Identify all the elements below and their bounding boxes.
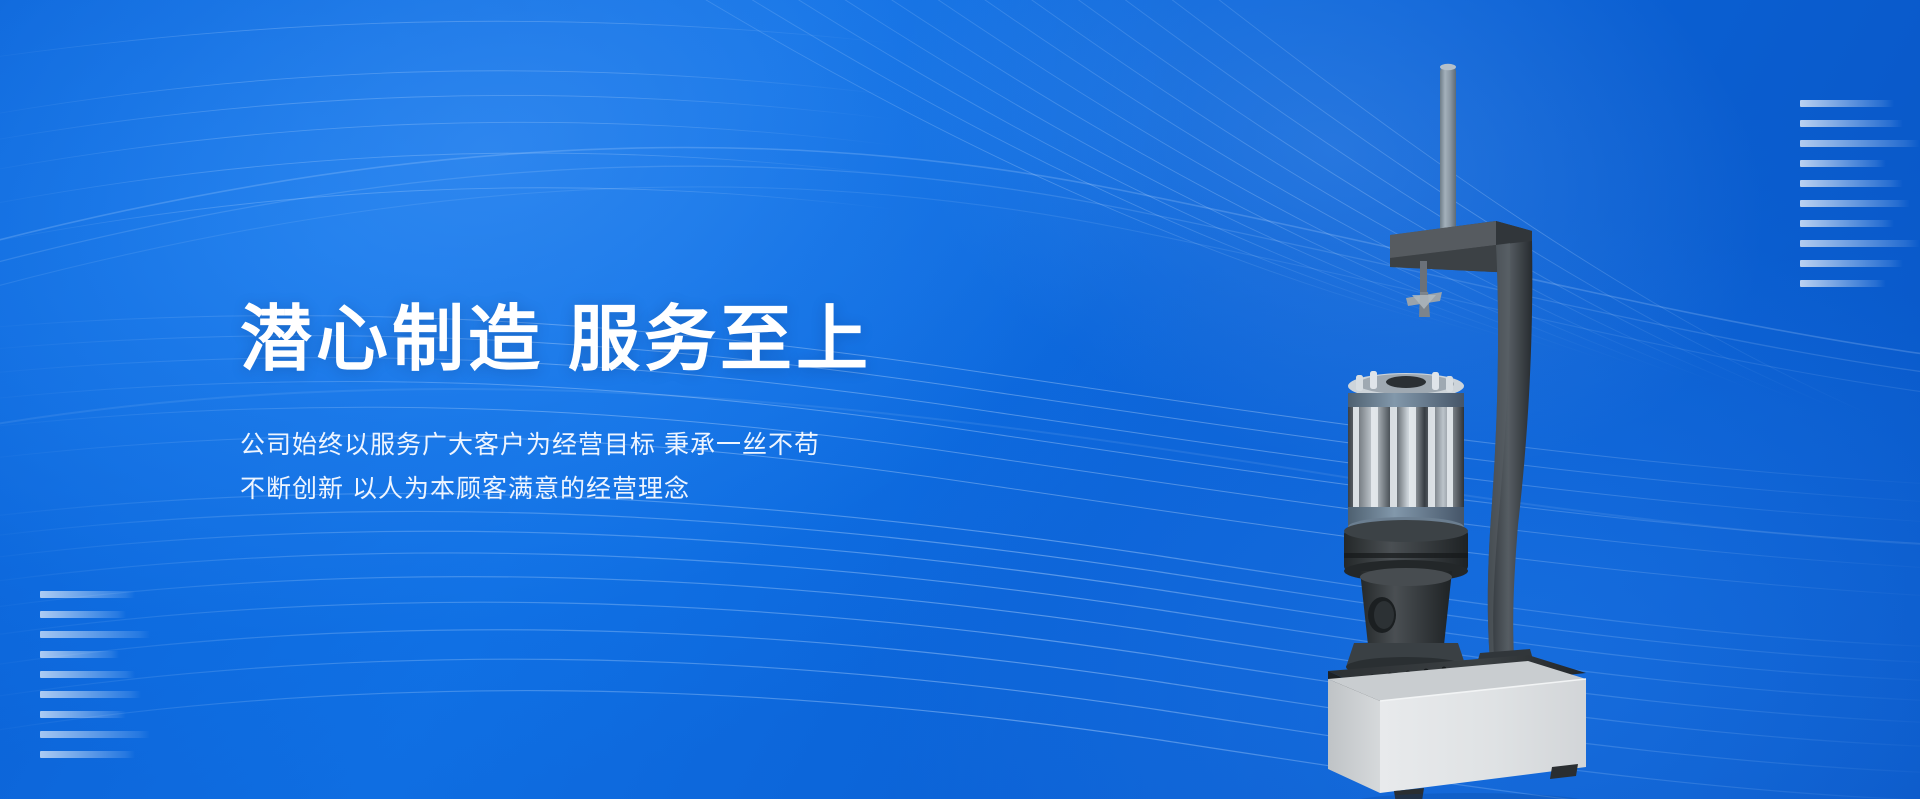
banner-subcopy-line-1: 公司始终以服务广大客户为经营目标 秉承一丝不苟 bbox=[240, 423, 1000, 468]
decor-bar bbox=[40, 691, 141, 698]
product-machine-illustration bbox=[1320, 55, 1650, 799]
decor-bar bbox=[40, 671, 135, 678]
decor-bar bbox=[1800, 220, 1894, 227]
decor-bar bbox=[40, 631, 150, 638]
decor-bar bbox=[1800, 260, 1903, 267]
banner-copy-block: 潜心制造 服务至上 公司始终以服务广大客户为经营目标 秉承一丝不苟 不断创新 以… bbox=[240, 300, 1000, 512]
cabinet-pedestal bbox=[1328, 661, 1586, 793]
decor-bar bbox=[1800, 120, 1903, 127]
decor-bar bbox=[40, 751, 135, 758]
decor-bar bbox=[40, 611, 126, 618]
decor-bar bbox=[1800, 100, 1894, 107]
vertical-guide-rod bbox=[1440, 64, 1456, 240]
decor-bar bbox=[1800, 280, 1886, 287]
multi-column-cylinder bbox=[1348, 371, 1464, 537]
motor-housing bbox=[1344, 520, 1468, 677]
hero-banner: 潜心制造 服务至上 公司始终以服务广大客户为经营目标 秉承一丝不苟 不断创新 以… bbox=[0, 0, 1920, 799]
left-bottom-bar-stack bbox=[40, 591, 150, 771]
decor-bar bbox=[1800, 160, 1886, 167]
decor-bar bbox=[1800, 240, 1920, 247]
banner-headline: 潜心制造 服务至上 bbox=[240, 300, 1000, 381]
decor-bar bbox=[1800, 180, 1903, 187]
decor-bar bbox=[40, 731, 150, 738]
right-edge-bar-stack bbox=[1800, 100, 1920, 300]
decor-bar bbox=[40, 591, 135, 598]
banner-subcopy: 公司始终以服务广大客户为经营目标 秉承一丝不苟 不断创新 以人为本顾客满意的经营… bbox=[240, 423, 1000, 512]
banner-subcopy-line-2: 不断创新 以人为本顾客满意的经营理念 bbox=[240, 467, 1000, 512]
decor-bar bbox=[1800, 140, 1920, 147]
decor-bar bbox=[40, 711, 126, 718]
spindle-cutter bbox=[1406, 261, 1442, 317]
decor-bar bbox=[1800, 200, 1910, 207]
decor-bar bbox=[40, 651, 119, 658]
